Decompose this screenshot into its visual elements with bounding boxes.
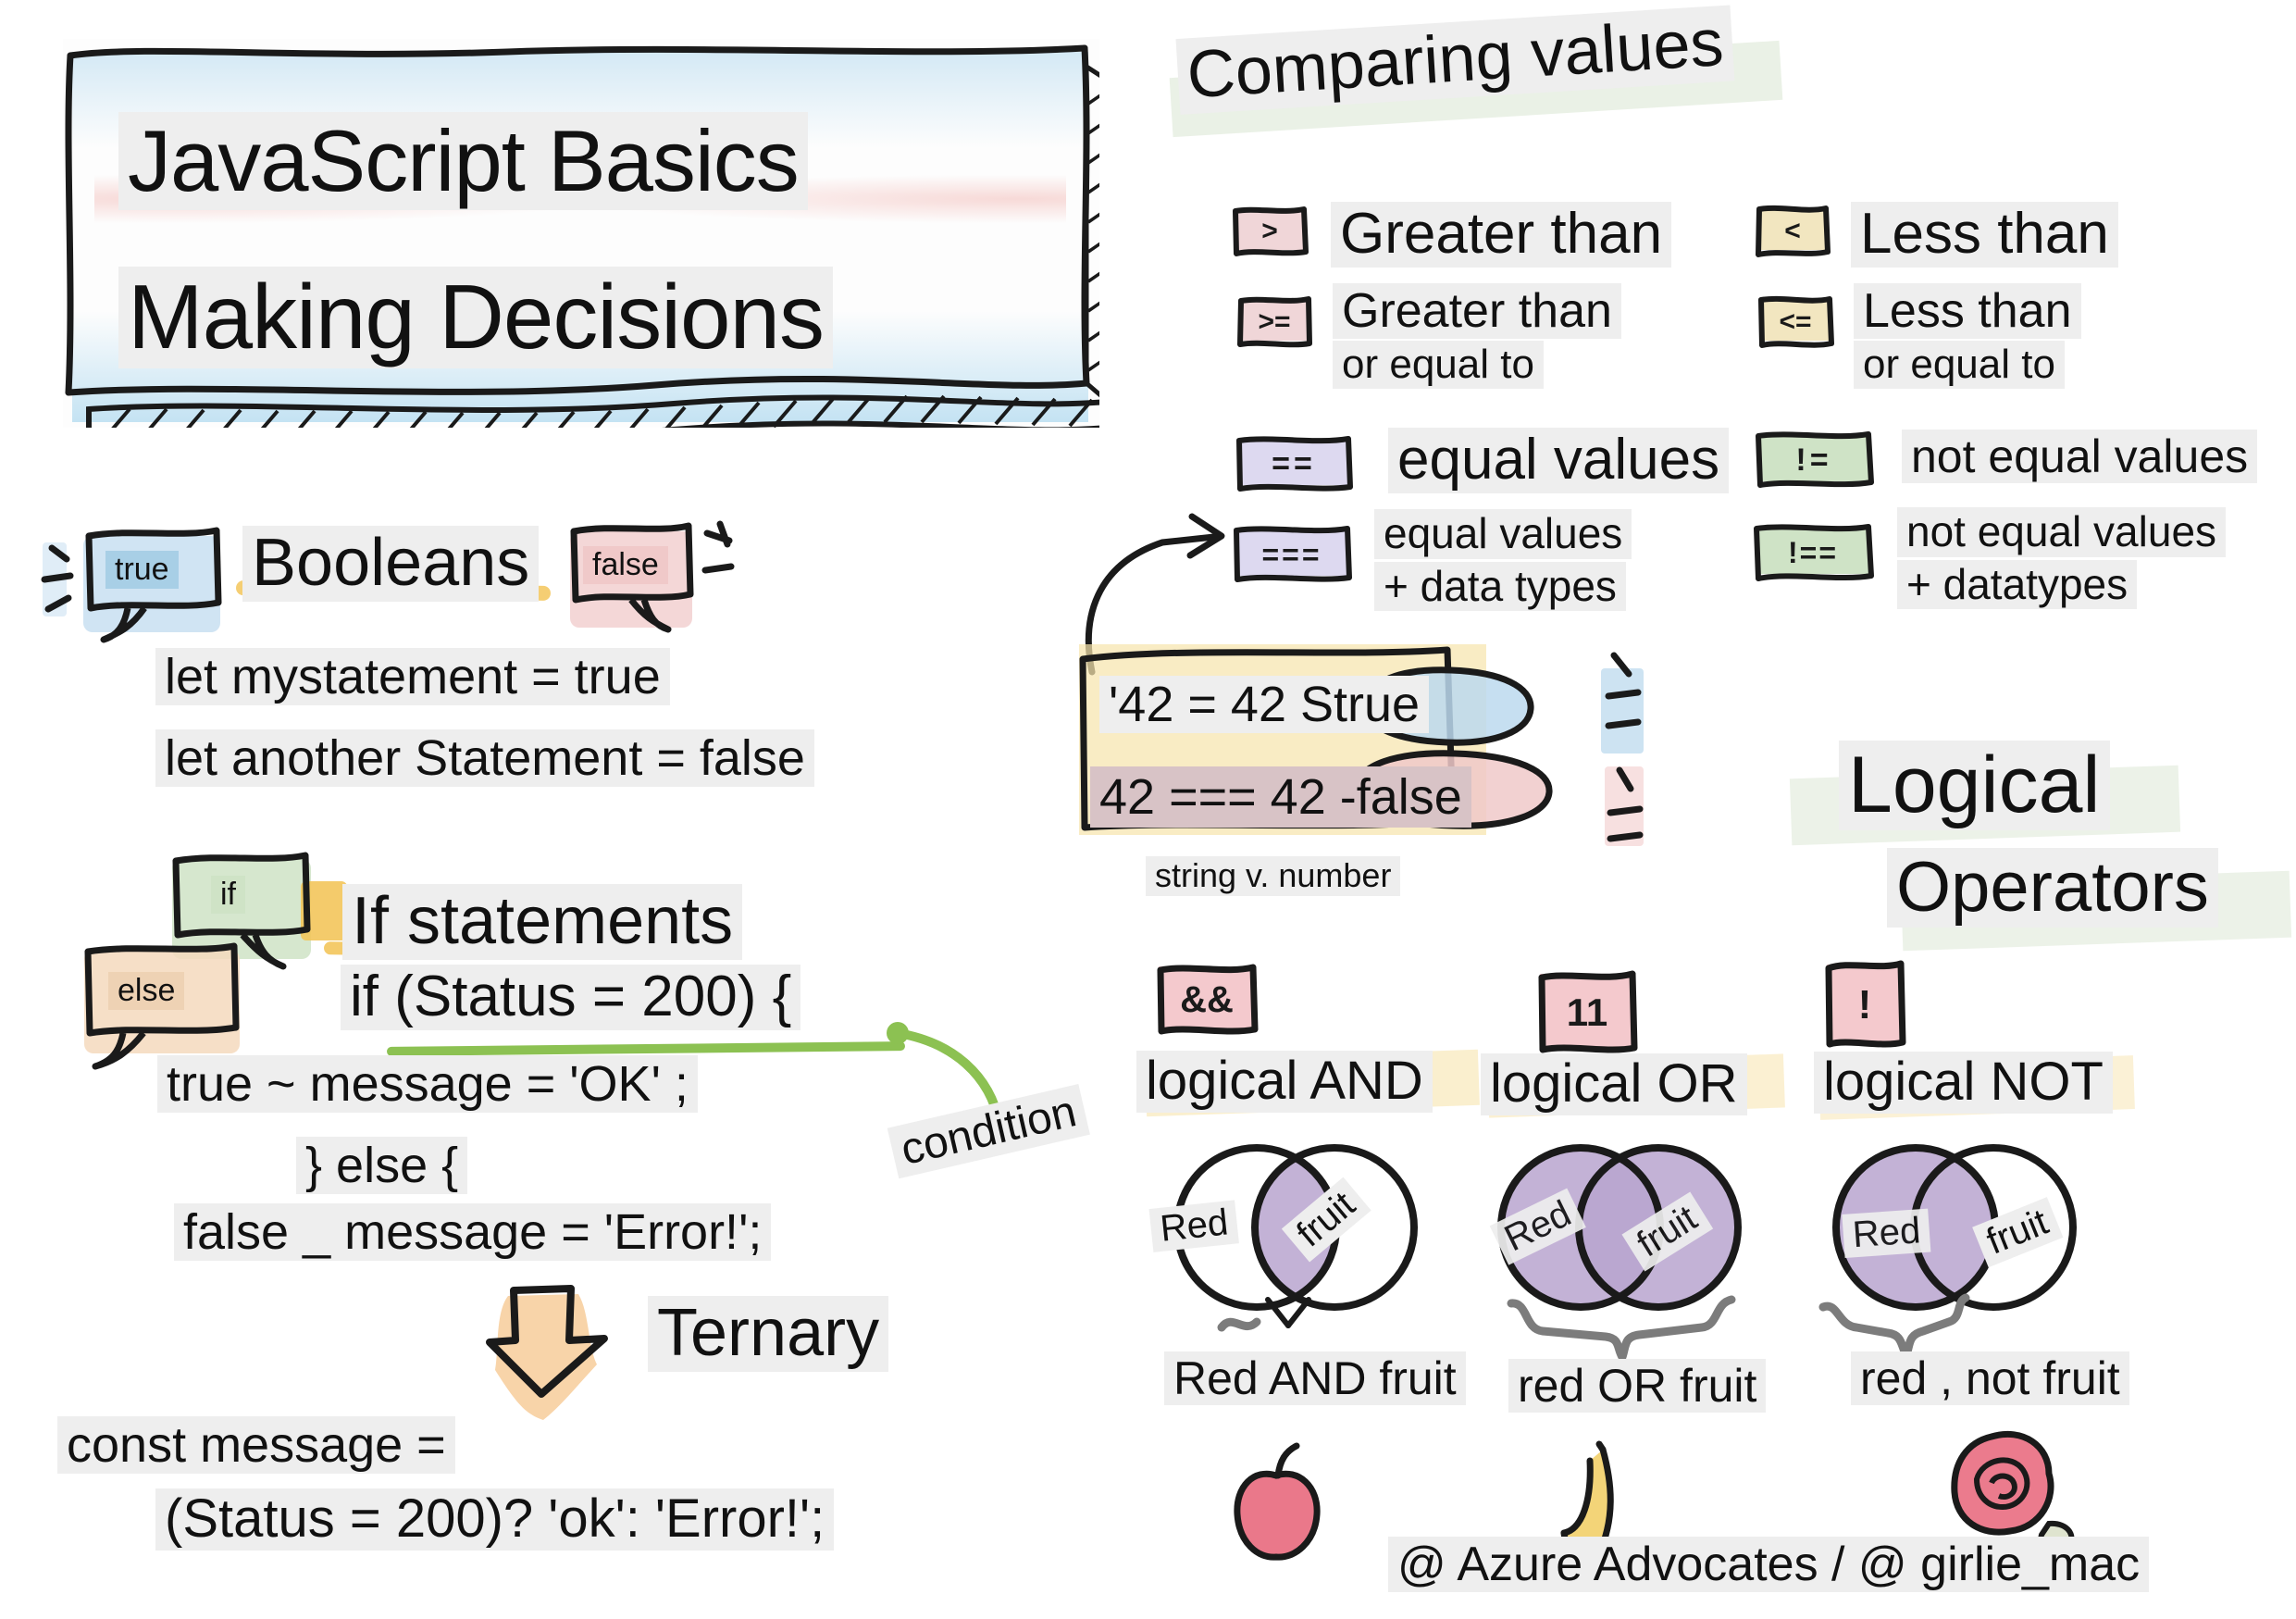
page-title-line1-text: JavaScript Basics xyxy=(118,112,808,210)
operator-chip-logical-not[interactable]: ! xyxy=(1823,961,1906,1050)
chip-symbol: != xyxy=(1754,431,1874,489)
bubble-if-text: if xyxy=(211,876,245,914)
apple-icon xyxy=(1226,1444,1328,1564)
ternary-label-text: Ternary xyxy=(648,1296,888,1372)
brace-not-icon xyxy=(1816,1294,1973,1359)
ternary-label: Ternary xyxy=(648,1296,888,1372)
if-statements-heading-text: If statements xyxy=(342,884,742,960)
chip-symbol: 11 xyxy=(1536,970,1638,1055)
logical-or-label: logical OR xyxy=(1481,1053,1747,1115)
venn-and-left-label: Red xyxy=(1149,1200,1240,1252)
label-gte-line2: or equal to xyxy=(1333,341,1544,389)
label-not-equal-text: not equal values xyxy=(1902,430,2257,483)
label-strict-not-equal-line2: + datatypes xyxy=(1897,560,2137,610)
sparkle-right-icon xyxy=(700,520,755,622)
venn-diagram-not: Red fruit xyxy=(1806,1140,2112,1316)
chip-symbol: === xyxy=(1231,526,1353,583)
page-title-line2: Making Decisions xyxy=(118,265,833,369)
operator-chip-strict-equal[interactable]: === xyxy=(1231,526,1353,583)
if-code-line-3-text: } else { xyxy=(296,1137,467,1194)
logical-not-label-text: logical NOT xyxy=(1814,1052,2113,1114)
venn-and-caption: Red AND fruit xyxy=(1164,1351,1466,1405)
label-strict-not-equal-line1: not equal values xyxy=(1897,507,2226,557)
venn-diagram-or: Red fruit xyxy=(1471,1140,1777,1316)
logical-and-label-text: logical AND xyxy=(1136,1051,1433,1113)
operator-chip-logical-or[interactable]: 11 xyxy=(1536,970,1638,1055)
label-less-than: Less than xyxy=(1851,202,2118,268)
if-code-line-1: if (Status = 200) { xyxy=(341,965,800,1030)
label-greater-than-text: Greater than xyxy=(1331,202,1671,268)
label-gte-line1: Greater than xyxy=(1333,283,1621,339)
brace-and-icon xyxy=(1212,1294,1342,1350)
venn-or-caption: red OR fruit xyxy=(1508,1359,1766,1413)
bubble-else-text: else xyxy=(108,972,184,1010)
footer-credit-text: @ Azure Advocates / @ girlie_mac xyxy=(1388,1537,2149,1592)
label-greater-than: Greater than xyxy=(1331,202,1671,268)
chip-symbol: == xyxy=(1234,435,1354,492)
title-frame-border xyxy=(63,39,1099,428)
logical-not-label: logical NOT xyxy=(1814,1052,2113,1114)
operator-chip-logical-and[interactable]: && xyxy=(1155,963,1259,1037)
operator-chip-less-than[interactable]: < xyxy=(1754,205,1831,257)
chip-symbol: > xyxy=(1231,205,1309,257)
venn-and-caption-text: Red AND fruit xyxy=(1164,1351,1466,1405)
label-less-than-text: Less than xyxy=(1851,202,2118,268)
label-not-equal: not equal values xyxy=(1902,430,2257,483)
booleans-code-line-2-text: let another Statement = false xyxy=(155,729,814,787)
logical-and-label: logical AND xyxy=(1136,1051,1433,1113)
label-loose-equal-text: equal values xyxy=(1388,428,1729,493)
page-title-line1: JavaScript Basics xyxy=(118,111,808,211)
label-greater-than-or-equal: Greater than or equal to xyxy=(1333,283,1621,389)
label-less-than-or-equal: Less than or equal to xyxy=(1854,283,2081,389)
operator-chip-less-than-or-equal[interactable]: <= xyxy=(1756,296,1834,348)
chip-symbol: && xyxy=(1155,963,1259,1037)
booleans-heading-text: Booleans xyxy=(242,526,539,602)
label-lte-line2: or equal to xyxy=(1854,341,2065,389)
operator-chip-greater-than-or-equal[interactable]: >= xyxy=(1235,296,1313,348)
bubble-false-text: false xyxy=(583,546,668,584)
example-line-1: '42 = 42 Strue xyxy=(1099,676,1429,733)
if-code-line-4-text: false _ message = 'Error!'; xyxy=(174,1203,771,1261)
down-arrow-icon[interactable] xyxy=(486,1285,615,1424)
bubble-else: else xyxy=(79,942,245,1068)
brace-or-icon xyxy=(1504,1296,1744,1361)
operator-chip-greater-than[interactable]: > xyxy=(1231,205,1309,257)
label-loose-equal: equal values xyxy=(1388,428,1729,493)
ternary-code-line-2: (Status = 200)? 'ok': 'Error!'; xyxy=(155,1488,834,1551)
title-card: JavaScript Basics Making Decisions xyxy=(63,39,1099,428)
chip-symbol: ! xyxy=(1823,961,1906,1050)
label-strict-equal: equal values + data types xyxy=(1374,509,1632,611)
page-title-line2-text: Making Decisions xyxy=(118,267,833,368)
ternary-code-line-2-text: (Status = 200)? 'ok': 'Error!'; xyxy=(155,1488,834,1551)
if-code-line-3: } else { xyxy=(296,1137,467,1194)
logical-heading-line2-text: Operators xyxy=(1887,848,2218,928)
example-line-2-text: 42 === 42 -false xyxy=(1090,766,1471,828)
chip-symbol: <= xyxy=(1756,296,1834,348)
operator-chip-strict-not-equal[interactable]: !== xyxy=(1752,524,1874,581)
comparing-values-heading: Comparing values xyxy=(1171,37,1818,139)
operator-chip-not-equal[interactable]: != xyxy=(1754,431,1874,489)
logical-operators-heading: Logical Operators xyxy=(1791,733,2290,955)
label-strict-equal-line1: equal values xyxy=(1374,509,1632,559)
example-line-2: 42 === 42 -false xyxy=(1090,766,1471,828)
chip-symbol: !== xyxy=(1752,524,1874,581)
if-code-line-1-text: if (Status = 200) { xyxy=(341,965,800,1030)
booleans-code-line-1: let mystatement = true xyxy=(155,648,670,705)
booleans-code-line-1-text: let mystatement = true xyxy=(155,648,670,705)
booleans-code-line-2: let another Statement = false xyxy=(155,729,814,787)
label-strict-not-equal: not equal values + datatypes xyxy=(1897,507,2226,609)
bubble-true: true xyxy=(80,523,228,634)
ternary-code-line-1-text: const message = xyxy=(57,1416,455,1474)
venn-not-caption: red , not fruit xyxy=(1851,1351,2129,1405)
venn-diagram-and: Red fruit xyxy=(1148,1140,1453,1316)
venn-or-caption-text: red OR fruit xyxy=(1508,1359,1766,1413)
venn-not-caption-text: red , not fruit xyxy=(1851,1351,2129,1405)
example-caption-text: string v. number xyxy=(1146,856,1400,896)
logical-or-label-text: logical OR xyxy=(1481,1053,1747,1115)
venn-not-left-label: Red xyxy=(1842,1209,1930,1259)
bubble-false: false xyxy=(566,520,696,629)
if-statements-heading: If statements xyxy=(342,884,742,960)
label-strict-equal-line2: + data types xyxy=(1374,562,1626,612)
example-line-1-text: '42 = 42 Strue xyxy=(1099,676,1429,733)
ternary-code-line-1: const message = xyxy=(57,1416,455,1474)
decorative-ticks-icon xyxy=(1573,648,1684,861)
bubble-true-text: true xyxy=(105,551,179,589)
footer-credit: @ Azure Advocates / @ girlie_mac xyxy=(1388,1537,2149,1592)
if-code-line-4: false _ message = 'Error!'; xyxy=(174,1203,771,1261)
chip-symbol: >= xyxy=(1235,296,1313,348)
logical-heading-line1-text: Logical xyxy=(1839,741,2110,830)
chip-symbol: < xyxy=(1754,205,1831,257)
condition-underline xyxy=(387,1041,905,1056)
operator-chip-loose-equal[interactable]: == xyxy=(1234,435,1354,492)
booleans-heading: Booleans xyxy=(242,526,539,602)
example-caption: string v. number xyxy=(1146,856,1400,896)
label-lte-line1: Less than xyxy=(1854,283,2081,339)
